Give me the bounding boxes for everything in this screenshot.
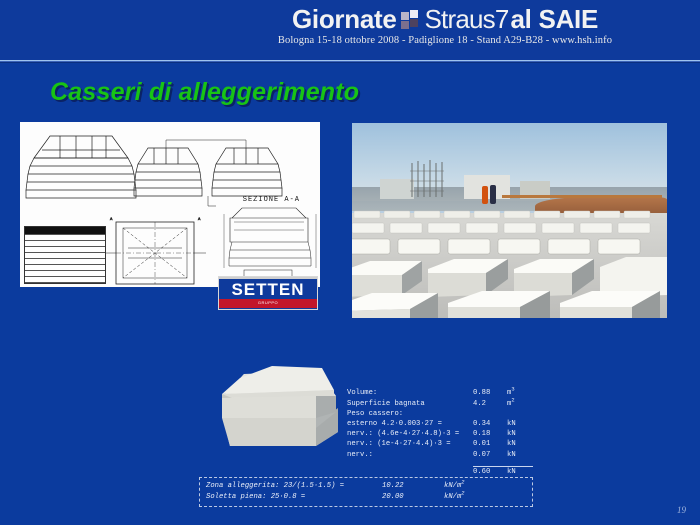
data-row-value: 0.18 [473,429,507,439]
summary-row-unit: kN/m2 [444,481,504,492]
summary-row: Soletta piena: 25·0.8 =20.00kN/m2 [206,492,504,503]
summary-row-unit-text: kN/m [444,493,461,501]
summary-row-value: 20.00 [382,492,444,503]
photo-rebar-cage [408,159,478,199]
data-total-label [347,466,473,477]
data-row-value: 0.01 [473,439,507,449]
data-row: nerv.: (1e-4·27·4.4)·3 =0.01kN [347,439,533,449]
data-row-unit-exponent: 3 [511,387,514,393]
data-row-label: nerv.: (4.6e-4·27·4.8)·3 = [347,429,473,439]
data-row-unit-text: kN [507,430,516,438]
header-title-straus7: Straus7 [425,6,509,32]
setten-company-logo: SETTEN GRUPPO IMPRESA GENERALE DI COSTRU… [218,276,318,310]
data-row: Peso cassero: [347,409,533,419]
data-total-value: 0.60 [473,466,507,477]
data-row: Volume:0.88m3 [347,388,533,398]
data-row-label: Superficie bagnata [347,399,473,409]
load-summary-box: Zona alleggerita: 23/(1.5·1.5) =10.22kN/… [199,477,533,507]
data-row: nerv.: (4.6e-4·27·4.8)·3 =0.18kN [347,429,533,439]
data-row-label: Peso cassero: [347,409,473,419]
summary-row-unit-exponent: 2 [461,491,464,497]
header-title-row: Giornate Straus7 al SAIE [230,6,660,32]
summary-row-unit-exponent: 2 [461,480,464,486]
data-row-unit-text: kN [507,420,516,428]
setten-logo-word: SETTEN [219,281,317,298]
summary-row-unit: kN/m2 [444,492,504,503]
straus7-squares-icon [401,10,420,29]
setten-logo-band: GRUPPO [219,299,317,308]
data-row-unit-text: kN [507,440,516,448]
setten-logo-tagline: IMPRESA GENERALE DI COSTRUZIONI [219,309,317,310]
data-row-unit-text: kN [507,451,516,459]
data-row-label: nerv.: (1e-4·27·4.4)·3 = [347,439,473,449]
data-row: esterno 4.2·0.003·27 =0.34kN [347,419,533,429]
data-row-unit-exponent: 2 [511,397,514,403]
data-row-unit: kN [507,450,533,460]
page-title: Casseri di alleggerimento [50,78,359,107]
data-row-label: esterno 4.2·0.003·27 = [347,419,473,429]
data-row-unit [507,409,533,419]
section-label: SEZIONE A-A [243,196,300,204]
data-total-unit: kN [507,466,533,477]
header-subtitle: Bologna 15-18 ottobre 2008 - Padiglione … [230,35,660,46]
header-divider [0,60,700,63]
data-row-value: 0.07 [473,450,507,460]
summary-row-unit-text: kN/m [444,482,461,490]
data-row: Superficie bagnata4.2m2 [347,399,533,409]
setten-logo-band-text: GRUPPO [219,300,317,305]
header-inner: Giornate Straus7 al SAIE Bologna 15-18 o… [230,6,660,46]
data-row-unit: kN [507,439,533,449]
drawing-title-block [24,226,106,284]
page-number: 19 [677,505,686,515]
svg-text:A: A [110,218,113,222]
data-row-value: 4.2 [473,399,507,409]
summary-row-value: 10.22 [382,481,444,492]
technical-drawing-panel: A A SEZIONE A-A [20,122,320,287]
data-row-unit: kN [507,429,533,439]
slide-header: Giornate Straus7 al SAIE Bologna 15-18 o… [0,0,700,62]
data-row-unit: m2 [507,399,533,409]
photo-formwork-boxes [352,209,667,318]
data-row-value: 0.88 [473,388,507,398]
cassero-data-rows: Volume:0.88m3Superficie bagnata4.2m2Peso… [347,388,533,477]
3d-formwork-box-render [220,362,340,454]
photo-worker [490,185,496,204]
load-summary-rows: Zona alleggerita: 23/(1.5·1.5) =10.22kN/… [206,481,504,503]
svg-text:A: A [198,218,201,222]
summary-row-label: Soletta piena: 25·0.8 = [206,492,382,503]
photo-fence [502,195,662,198]
data-row-label: Volume: [347,388,473,398]
construction-site-formwork-photo [352,123,667,318]
data-row: nerv.:0.07kN [347,450,533,460]
data-total-row: 0.60kN [347,466,533,477]
data-row-unit: kN [507,419,533,429]
summary-row: Zona alleggerita: 23/(1.5·1.5) =10.22kN/… [206,481,504,492]
data-row-label: nerv.: [347,450,473,460]
data-row-value: 0.34 [473,419,507,429]
header-title-alsaie: al SAIE [511,6,599,32]
data-row-value [473,409,507,419]
header-title-giornate: Giornate [292,6,397,32]
cassero-data-table: Volume:0.88m3Superficie bagnata4.2m2Peso… [347,368,533,487]
summary-row-label: Zona alleggerita: 23/(1.5·1.5) = [206,481,382,492]
photo-worker [482,186,488,204]
